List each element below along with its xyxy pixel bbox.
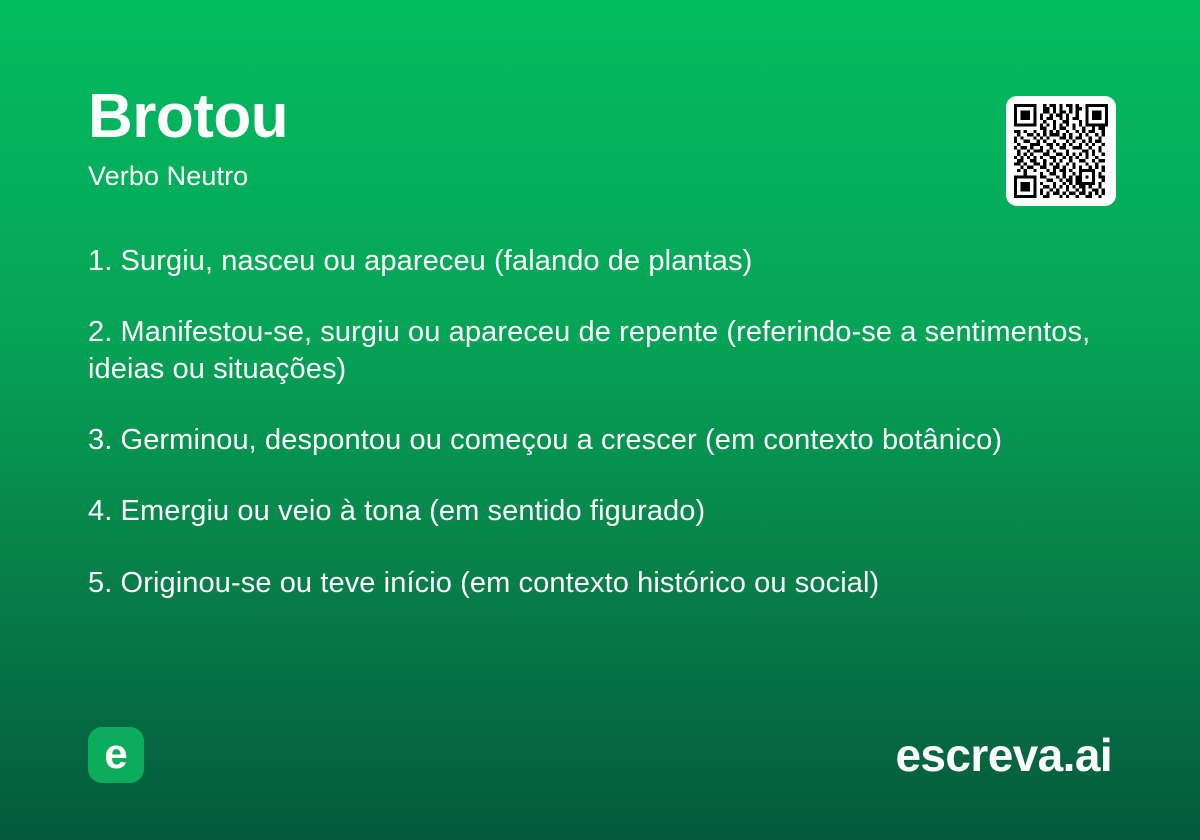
logo-letter: e: [104, 733, 127, 775]
list-item: 4. Emergiu ou veio à tona (em sentido fi…: [88, 493, 1093, 530]
word-class-label: Verbo Neutro: [88, 148, 968, 192]
qr-code-icon: [1014, 104, 1108, 198]
list-item: 2. Manifestou-se, surgiu ou apareceu de …: [88, 314, 1093, 388]
brand-wordmark: escreva.ai: [895, 732, 1112, 778]
qr-code-panel[interactable]: [1006, 96, 1116, 206]
list-item: 3. Germinou, despontou ou começou a cres…: [88, 422, 1093, 459]
word-definition-card: Brotou Verbo Neutro: [0, 0, 1200, 840]
card-header: Brotou Verbo Neutro: [88, 86, 968, 192]
list-item: 5. Originou-se ou teve início (em contex…: [88, 565, 1093, 602]
page-title: Brotou: [88, 86, 968, 148]
escreva-logo-icon: e: [88, 727, 144, 783]
list-item: 1. Surgiu, nasceu ou apareceu (falando d…: [88, 243, 1093, 280]
card-footer: e escreva.ai: [88, 726, 1112, 784]
definition-list: 1. Surgiu, nasceu ou apareceu (falando d…: [88, 243, 1093, 602]
